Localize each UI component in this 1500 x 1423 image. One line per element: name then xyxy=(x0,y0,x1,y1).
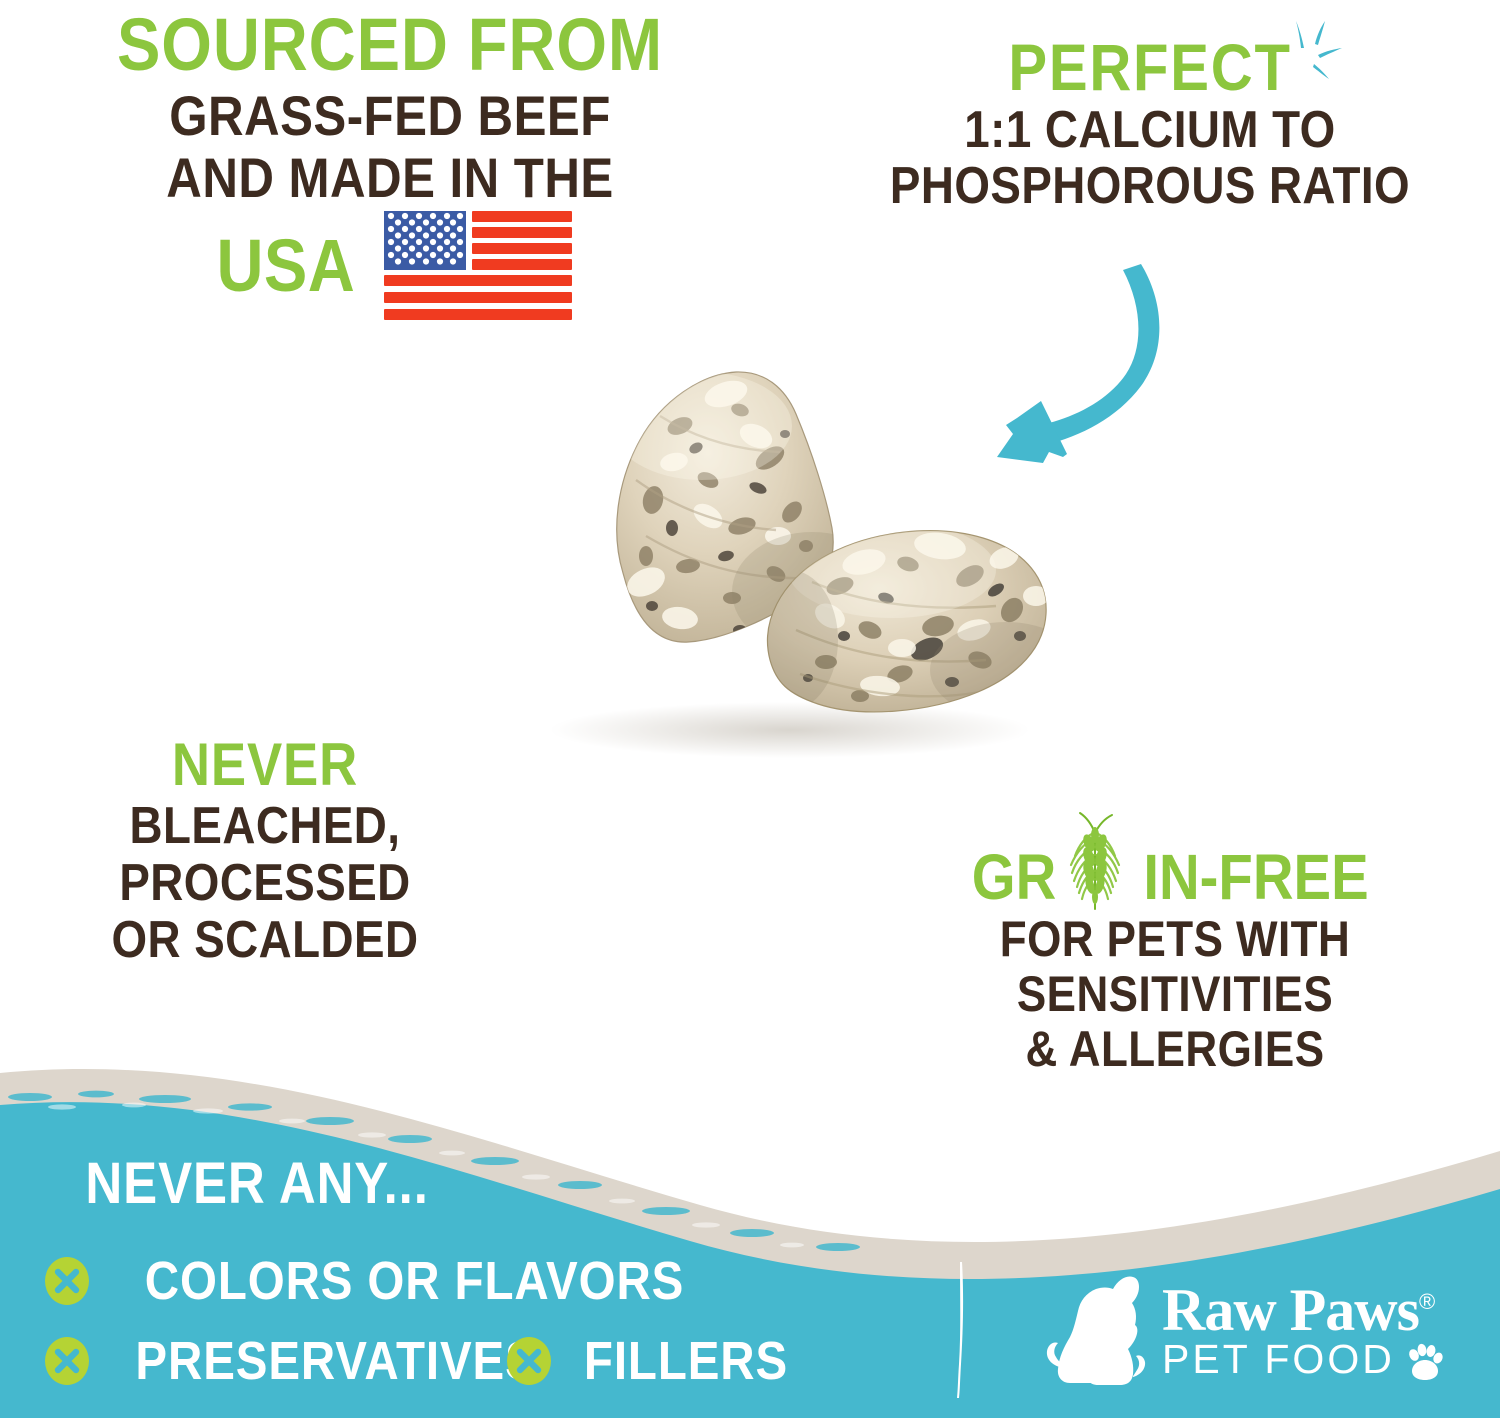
claim-never-line3: PROCESSED xyxy=(80,857,450,909)
us-flag-icon xyxy=(383,210,573,322)
claim-calcium-ratio: PERFECT 1:1 CALCIUM TO PHOSPHOROUS RATIO xyxy=(840,34,1460,212)
claim-sourced-line3: AND MADE IN THE xyxy=(100,150,681,206)
brand-logo[interactable]: Raw Paws® PET FOOD xyxy=(1040,1258,1460,1404)
logo-tagline-row: PET FOOD xyxy=(1162,1339,1445,1380)
x-badge-icon xyxy=(506,1336,552,1386)
claim-never-bleached: NEVER BLEACHED, PROCESSED OR SCALDED xyxy=(55,735,475,966)
claim-grain-free: GR xyxy=(925,805,1425,1074)
claim-sourced-usa-row: USA xyxy=(60,210,720,322)
x-badge-icon xyxy=(44,1256,90,1306)
banner-item-label: FILLERS xyxy=(584,1330,788,1392)
banner-item-label: PRESERVATIVES xyxy=(135,1330,537,1392)
registered-mark: ® xyxy=(1419,1289,1434,1314)
claim-sourced-line2: GRASS-FED BEEF xyxy=(100,88,681,144)
claim-grain-free-line2: FOR PETS WITH xyxy=(955,914,1395,964)
banner-item-preservatives: PRESERVATIVES xyxy=(44,1330,565,1392)
claim-never-highlight: NEVER xyxy=(80,735,450,795)
grain-stalk-icon xyxy=(1056,809,1134,913)
logo-brand-name: Raw Paws® xyxy=(1162,1282,1434,1339)
logo-tagline: PET FOOD xyxy=(1162,1339,1395,1380)
claim-sourced-highlight: SOURCED FROM xyxy=(100,8,681,82)
claim-sourced-from: SOURCED FROM GRASS-FED BEEF AND MADE IN … xyxy=(60,8,720,322)
claim-grain-free-line3: SENSITIVITIES xyxy=(955,969,1395,1019)
paw-print-icon xyxy=(1405,1342,1445,1382)
claim-never-line2: BLEACHED, xyxy=(80,800,450,852)
infographic-canvas: SOURCED FROM GRASS-FED BEEF AND MADE IN … xyxy=(0,0,1500,1418)
claim-grain-free-headline: GR xyxy=(925,805,1425,909)
banner-item-label: COLORS OR FLAVORS xyxy=(145,1250,684,1312)
banner-heading: NEVER ANY... xyxy=(85,1150,428,1217)
claim-grain-free-highlight-after: IN-FREE xyxy=(1143,845,1368,909)
dog-and-cat-icon xyxy=(1040,1271,1158,1391)
product-photo xyxy=(440,330,1130,790)
claim-ratio-highlight: PERFECT xyxy=(1008,34,1291,100)
claim-sourced-usa: USA xyxy=(217,229,356,303)
banner-item-fillers: FILLERS xyxy=(506,1330,802,1392)
logo-wordmark: Raw Paws® PET FOOD xyxy=(1162,1282,1445,1380)
claim-ratio-highlight-wrap: PERFECT xyxy=(989,34,1311,100)
banner-item-colors-or-flavors: COLORS OR FLAVORS xyxy=(44,1250,721,1312)
claim-ratio-line2: 1:1 CALCIUM TO xyxy=(877,104,1423,156)
claim-grain-free-highlight-before: GR xyxy=(972,845,1056,909)
vertical-divider-icon xyxy=(957,1262,967,1398)
claim-never-line4: OR SCALDED xyxy=(80,914,450,966)
logo-brand-text: Raw Paws xyxy=(1162,1277,1419,1343)
sparkle-icon xyxy=(1285,18,1345,80)
claim-ratio-line3: PHOSPHOROUS RATIO xyxy=(877,160,1423,212)
x-badge-icon xyxy=(44,1336,90,1386)
